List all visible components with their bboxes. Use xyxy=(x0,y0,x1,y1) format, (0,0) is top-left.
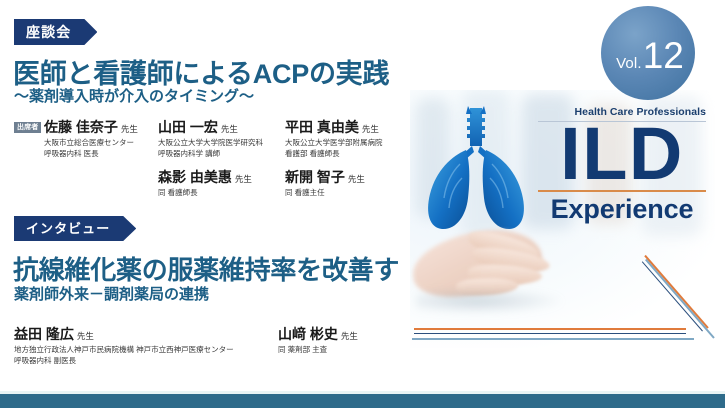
hero-subtitle: Experience xyxy=(538,196,706,223)
participant-honorific: 先生 xyxy=(77,331,94,341)
frame-line-orange xyxy=(414,328,686,330)
participant-honorific: 先生 xyxy=(362,124,379,134)
participant-affiliation: 大阪公立大学医学部附属病院 看護部 看護師長 xyxy=(285,138,383,160)
hero-title: ILD xyxy=(538,120,706,188)
volume-number: 12 xyxy=(643,37,684,74)
participant-affiliation: 同 薬剤部 主査 xyxy=(278,345,358,356)
participant-block: 森影 由美惠先生 同 看護師長 xyxy=(158,170,252,199)
roundtable-subline: ～薬剤導入時が介入のタイミング～ xyxy=(14,85,254,106)
participant-name: 益田 隆広先生 xyxy=(14,327,234,342)
participant-honorific: 先生 xyxy=(121,124,138,134)
participant-affiliation: 大阪市立総合医療センター 呼吸器内科 医長 xyxy=(44,138,138,160)
hero-image-card: Health Care Professionals ILD Experience xyxy=(410,90,715,348)
interview-headline: 抗線維化薬の服薬維持率を改善する xyxy=(13,250,425,287)
lungs-icon xyxy=(416,102,536,242)
section-tag-roundtable: 座談会 xyxy=(14,19,97,45)
participant-name: 新開 智子先生 xyxy=(285,170,365,185)
frame-diagonal-navy xyxy=(641,261,702,331)
participant-block: 山田 一宏先生 大阪公立大学大学院医学研究科 呼吸器内科学 講師 xyxy=(158,120,263,160)
participant-name: 平田 真由美先生 xyxy=(285,120,383,135)
volume-label: Vol. xyxy=(616,55,642,72)
participant-block: 益田 隆広先生 地方独立行政法人神戸市民病院機構 神戸市立西神戸医療センター 呼… xyxy=(14,327,234,367)
participant-block: 新開 智子先生 同 看護主任 xyxy=(285,170,365,199)
frame-diagonal-orange xyxy=(644,255,708,329)
publication-cover: 座談会 医師と看護師によるACPの実践 ～薬剤導入時が介入のタイミング～ 出席者… xyxy=(0,0,725,408)
participant-affiliation: 大阪公立大学大学院医学研究科 呼吸器内科学 講師 xyxy=(158,138,263,160)
frame-diagonal-blue xyxy=(645,259,715,339)
interview-subline: 薬剤師外来－調剤薬局の連携 xyxy=(14,283,209,304)
participant-name: 山田 一宏先生 xyxy=(158,120,263,135)
volume-badge: Vol. 12 xyxy=(601,6,695,100)
hand-shadow xyxy=(416,288,566,314)
participant-name: 山﨑 彬史先生 xyxy=(278,327,358,342)
left-content-column: 座談会 医師と看護師によるACPの実践 ～薬剤導入時が介入のタイミング～ 出席者… xyxy=(0,0,400,394)
participant-affiliation: 同 看護師長 xyxy=(158,188,252,199)
participant-name: 森影 由美惠先生 xyxy=(158,170,252,185)
hero-text-block: Health Care Professionals ILD Experience xyxy=(538,106,706,223)
participant-affiliation: 地方独立行政法人神戸市民病院機構 神戸市立西神戸医療センター 呼吸器内科 副医長 xyxy=(14,345,234,367)
participant-block: 佐藤 佳奈子先生 大阪市立総合医療センター 呼吸器内科 医長 xyxy=(44,120,138,160)
participant-block: 平田 真由美先生 大阪公立大学医学部附属病院 看護部 看護師長 xyxy=(285,120,383,160)
participant-honorific: 先生 xyxy=(235,174,252,184)
frame-line-navy xyxy=(414,333,686,334)
participant-block: 山﨑 彬史先生 同 薬剤部 主査 xyxy=(278,327,358,356)
section-tag-interview: インタビュー xyxy=(14,216,136,241)
attendee-badge: 出席者 xyxy=(14,122,41,133)
participant-affiliation: 同 看護主任 xyxy=(285,188,365,199)
participant-name: 佐藤 佳奈子先生 xyxy=(44,120,138,135)
frame-line-blue xyxy=(412,338,694,340)
participant-honorific: 先生 xyxy=(341,331,358,341)
participant-honorific: 先生 xyxy=(221,124,238,134)
participant-honorific: 先生 xyxy=(348,174,365,184)
bottom-bar xyxy=(0,394,725,408)
